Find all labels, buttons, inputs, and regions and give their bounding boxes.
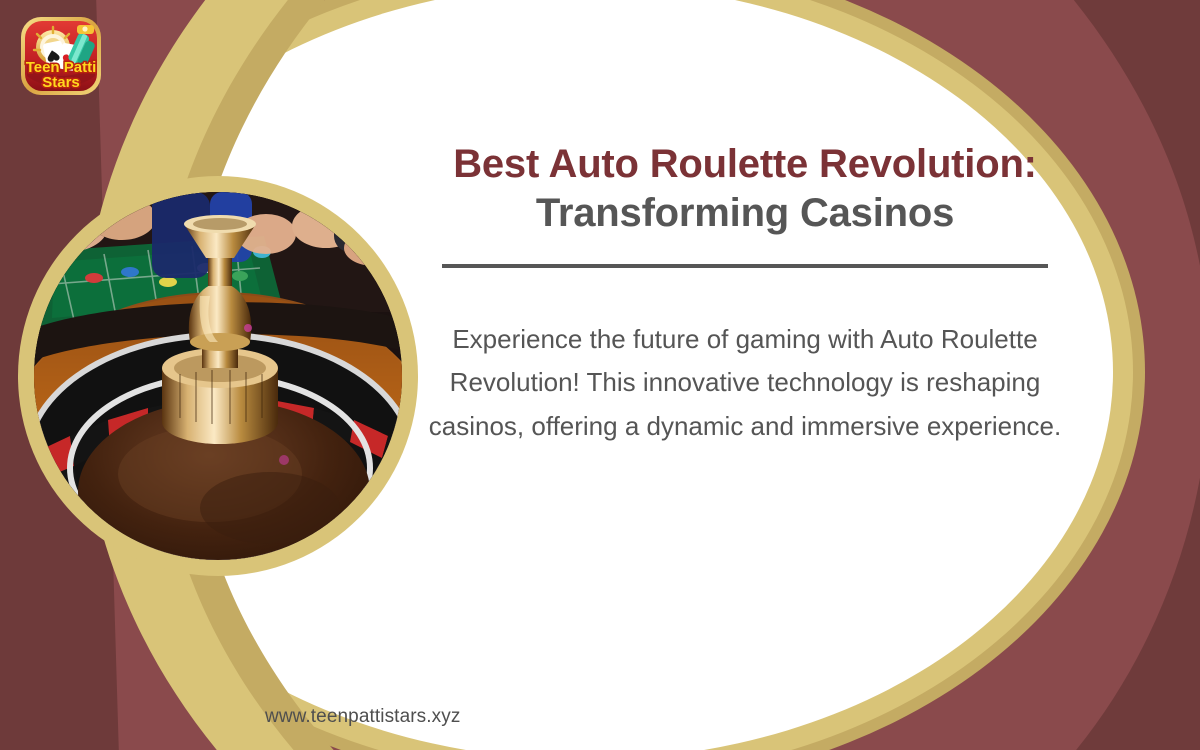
title-divider [442, 264, 1048, 268]
logo-text-line2: Stars [42, 74, 80, 91]
footer-website-url[interactable]: www.teenpattistars.xyz [265, 706, 460, 728]
content-block: Best Auto Roulette Revolution: Transform… [400, 140, 1090, 449]
teen-patti-stars-logo[interactable]: Teen Patti Teen Patti Stars Stars [15, 14, 115, 98]
body-paragraph: Experience the future of gaming with Aut… [400, 318, 1090, 449]
title-line-1: Best Auto Roulette Revolution: [400, 140, 1090, 189]
page-title: Best Auto Roulette Revolution: Transform… [400, 140, 1090, 238]
title-line-2: Transforming Casinos [400, 189, 1090, 238]
slide-canvas: 19 4 21 2 25 17 34 3 36 11 30 [0, 0, 1200, 750]
roulette-wheel-photo: 19 4 21 2 25 17 34 3 36 11 30 [34, 192, 402, 560]
